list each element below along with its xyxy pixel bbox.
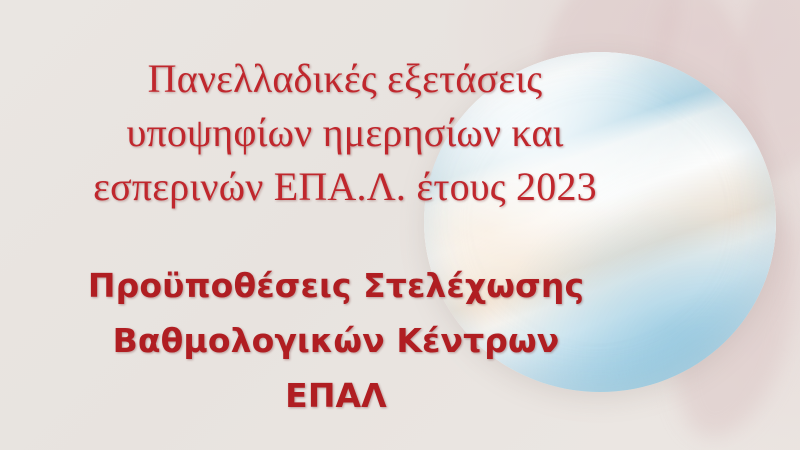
slide-subtitle: Προϋποθέσεις Στελέχωσης Βαθμολογικών Κέν…	[0, 258, 672, 423]
presentation-slide: Πανελλαδικές εξετάσεις υποψηφίων ημερησί…	[0, 0, 800, 450]
slide-title: Πανελλαδικές εξετάσεις υποψηφίων ημερησί…	[0, 52, 690, 214]
subtitle-line-2: Βαθμολογικών Κέντρων	[0, 313, 672, 368]
subtitle-line-3: ΕΠΑΛ	[0, 368, 672, 423]
slide-text-layer: Πανελλαδικές εξετάσεις υποψηφίων ημερησί…	[0, 0, 800, 450]
title-line-3: εσπερινών ΕΠΑ.Λ. έτους 2023	[0, 160, 690, 214]
title-line-1: Πανελλαδικές εξετάσεις	[0, 52, 690, 106]
title-line-2: υποψηφίων ημερησίων και	[0, 106, 690, 160]
subtitle-line-1: Προϋποθέσεις Στελέχωσης	[0, 258, 672, 313]
